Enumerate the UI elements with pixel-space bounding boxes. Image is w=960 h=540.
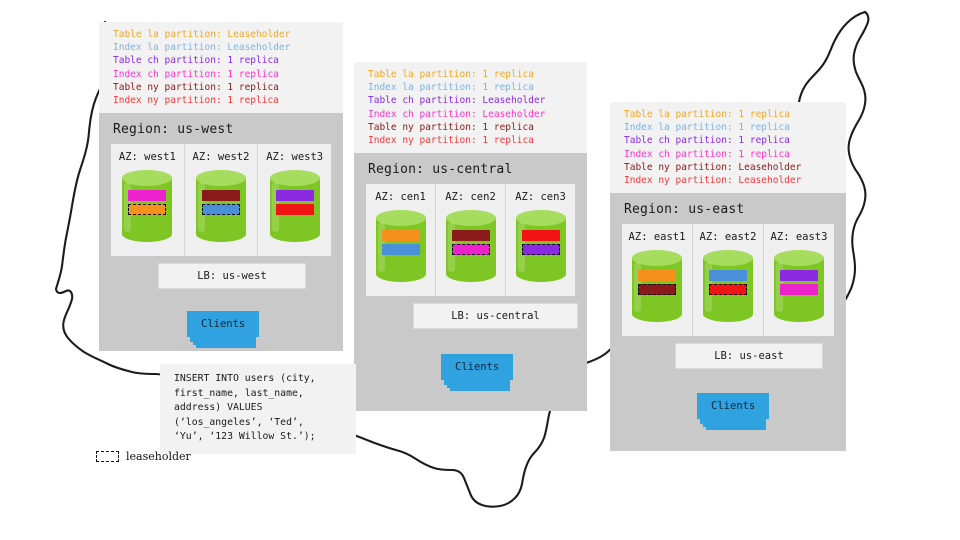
- legend-row-value: Leaseholder: [227, 42, 290, 53]
- legend-row-label: Index ny partition:: [113, 95, 222, 106]
- diagram-canvas: 2 Table la partition: LeaseholderIndex l…: [0, 0, 960, 540]
- replica-bar-leaseholder: [128, 204, 166, 215]
- legend-row-label: Index ch partition:: [113, 69, 222, 80]
- legend-row-value: Leaseholder: [482, 109, 545, 120]
- legend-row-value: 1 replica: [227, 69, 278, 80]
- replica-bar: [382, 244, 420, 255]
- replica-bar: [452, 230, 490, 241]
- az-label: AZ: east2: [693, 231, 763, 243]
- az-strip: AZ: cen1AZ: cen2AZ: cen3: [366, 184, 575, 296]
- partition-legend-us-east: Table la partition: 1 replicaIndex la pa…: [610, 102, 846, 193]
- replica-bar: [780, 284, 818, 295]
- legend-row-value: 1 replica: [738, 109, 789, 120]
- sql-statement-box: INSERT INTO users (city, first_name, las…: [160, 364, 356, 454]
- load-balancer-us-east[interactable]: LB: us-east: [675, 343, 823, 369]
- az-label: AZ: cen2: [436, 191, 505, 203]
- replica-bars: [382, 230, 420, 258]
- replica-bars: [780, 270, 818, 298]
- legend-row-label: Index la partition:: [624, 122, 733, 133]
- partition-legend-us-central: Table la partition: 1 replicaIndex la pa…: [354, 62, 587, 153]
- load-balancer-us-west[interactable]: LB: us-west: [158, 263, 306, 289]
- region-title: Region: us-east: [610, 193, 846, 224]
- partition-legend-us-west: Table la partition: LeaseholderIndex la …: [99, 22, 343, 113]
- replica-bar: [780, 270, 818, 281]
- replica-bar-leaseholder: [638, 284, 676, 295]
- az-label: AZ: east1: [622, 231, 692, 243]
- replica-bar-leaseholder: [709, 284, 747, 295]
- legend-row-label: Table ch partition:: [368, 95, 477, 106]
- replica-bar: [276, 190, 314, 201]
- legend-row-label: Table ny partition:: [624, 162, 733, 173]
- legend-row-value: 1 replica: [482, 69, 533, 80]
- replica-bar: [202, 190, 240, 201]
- az-label: AZ: cen3: [506, 191, 575, 203]
- region-cluster-us-west: Table la partition: LeaseholderIndex la …: [99, 22, 343, 351]
- database-node-cylinder: [196, 170, 246, 242]
- legend-row: Index la partition: 1 replica: [368, 81, 587, 94]
- az-strip: AZ: east1AZ: east2AZ: east3: [622, 224, 834, 336]
- legend-row: Table ny partition: 1 replica: [368, 121, 587, 134]
- legend-row-value: 1 replica: [482, 82, 533, 93]
- legend-row: Table ch partition: 1 replica: [113, 54, 343, 67]
- legend-row-value: 1 replica: [227, 95, 278, 106]
- replica-bars: [709, 270, 747, 298]
- legend-row: Index la partition: 1 replica: [624, 121, 846, 134]
- legend-row: Index ch partition: 1 replica: [113, 68, 343, 81]
- database-node-cylinder: [122, 170, 172, 242]
- legend-row-value: Leaseholder: [227, 29, 290, 40]
- legend-row-label: Index la partition:: [368, 82, 477, 93]
- legend-row-label: Table ch partition:: [624, 135, 733, 146]
- legend-row-label: Index la partition:: [113, 42, 222, 53]
- az-cell: AZ: cen3: [506, 184, 575, 296]
- legend-row-label: Index ch partition:: [624, 149, 733, 160]
- legend-row-label: Table la partition:: [113, 29, 222, 40]
- database-node-cylinder: [516, 210, 566, 282]
- legend-row-value: 1 replica: [738, 149, 789, 160]
- legend-row-value: 1 replica: [482, 122, 533, 133]
- legend-row: Index ny partition: 1 replica: [113, 94, 343, 107]
- clients-stack-us-west[interactable]: Clients: [187, 311, 259, 337]
- legend-row: Table ny partition: Leaseholder: [624, 161, 846, 174]
- database-node-cylinder: [703, 250, 753, 322]
- legend-row: Table la partition: 1 replica: [624, 108, 846, 121]
- replica-bar: [709, 270, 747, 281]
- clients-label: Clients: [697, 393, 769, 419]
- replica-bar-leaseholder: [452, 244, 490, 255]
- replica-bar-leaseholder: [522, 244, 560, 255]
- legend-row-label: Table la partition:: [624, 109, 733, 120]
- leaseholder-key-legend: leaseholder: [96, 450, 191, 463]
- legend-row-value: 1 replica: [482, 135, 533, 146]
- legend-row: Index ny partition: 1 replica: [368, 134, 587, 147]
- database-node-cylinder: [446, 210, 496, 282]
- legend-row-value: Leaseholder: [482, 95, 545, 106]
- leaseholder-swatch-icon: [96, 451, 119, 462]
- legend-row: Index la partition: Leaseholder: [113, 41, 343, 54]
- az-cell: AZ: east2: [693, 224, 764, 336]
- replica-bars: [522, 230, 560, 258]
- az-cell: AZ: west2: [185, 144, 259, 256]
- clients-stack-us-east[interactable]: Clients: [697, 393, 769, 419]
- region-title: Region: us-central: [354, 153, 587, 184]
- az-label: AZ: west2: [185, 151, 258, 163]
- database-node-cylinder: [632, 250, 682, 322]
- legend-row-value: 1 replica: [738, 135, 789, 146]
- legend-row-label: Index ny partition:: [624, 175, 733, 186]
- az-label: AZ: west3: [258, 151, 331, 163]
- replica-bars: [128, 190, 166, 218]
- legend-row: Index ny partition: Leaseholder: [624, 174, 846, 187]
- clients-label: Clients: [441, 354, 513, 380]
- az-cell: AZ: east1: [622, 224, 693, 336]
- legend-row-label: Index ch partition:: [368, 109, 477, 120]
- replica-bars: [276, 190, 314, 218]
- legend-row: Table la partition: 1 replica: [368, 68, 587, 81]
- az-cell: AZ: cen1: [366, 184, 436, 296]
- replica-bar: [638, 270, 676, 281]
- legend-row-value: 1 replica: [738, 122, 789, 133]
- legend-row: Table ch partition: Leaseholder: [368, 94, 587, 107]
- legend-row-value: 1 replica: [227, 55, 278, 66]
- replica-bars: [452, 230, 490, 258]
- replica-bar: [382, 230, 420, 241]
- load-balancer-us-central[interactable]: LB: us-central: [413, 303, 578, 329]
- legend-row-value: Leaseholder: [738, 175, 801, 186]
- leaseholder-key-label: leaseholder: [126, 450, 191, 463]
- clients-label: Clients: [187, 311, 259, 337]
- az-strip: AZ: west1AZ: west2AZ: west3: [111, 144, 331, 256]
- replica-bar: [128, 190, 166, 201]
- database-node-cylinder: [270, 170, 320, 242]
- legend-row-label: Index ny partition:: [368, 135, 477, 146]
- database-node-cylinder: [376, 210, 426, 282]
- replica-bars: [202, 190, 240, 218]
- legend-row-label: Table ch partition:: [113, 55, 222, 66]
- az-label: AZ: west1: [111, 151, 184, 163]
- replica-bar-leaseholder: [202, 204, 240, 215]
- az-cell: AZ: west3: [258, 144, 331, 256]
- replica-bars: [638, 270, 676, 298]
- az-cell: AZ: cen2: [436, 184, 506, 296]
- region-title: Region: us-west: [99, 113, 343, 144]
- az-label: AZ: cen1: [366, 191, 435, 203]
- legend-row-label: Table la partition:: [368, 69, 477, 80]
- legend-row-label: Table ny partition:: [113, 82, 222, 93]
- replica-bar: [276, 204, 314, 215]
- clients-stack-us-central[interactable]: Clients: [441, 354, 513, 380]
- legend-row-value: 1 replica: [227, 82, 278, 93]
- legend-row: Index ch partition: 1 replica: [624, 148, 846, 161]
- database-node-cylinder: [774, 250, 824, 322]
- replica-bar: [522, 230, 560, 241]
- legend-row-value: Leaseholder: [738, 162, 801, 173]
- legend-row: Index ch partition: Leaseholder: [368, 108, 587, 121]
- az-label: AZ: east3: [764, 231, 834, 243]
- legend-row: Table ny partition: 1 replica: [113, 81, 343, 94]
- az-cell: AZ: west1: [111, 144, 185, 256]
- legend-row: Table ch partition: 1 replica: [624, 134, 846, 147]
- az-cell: AZ: east3: [764, 224, 834, 336]
- legend-row-label: Table ny partition:: [368, 122, 477, 133]
- legend-row: Table la partition: Leaseholder: [113, 28, 343, 41]
